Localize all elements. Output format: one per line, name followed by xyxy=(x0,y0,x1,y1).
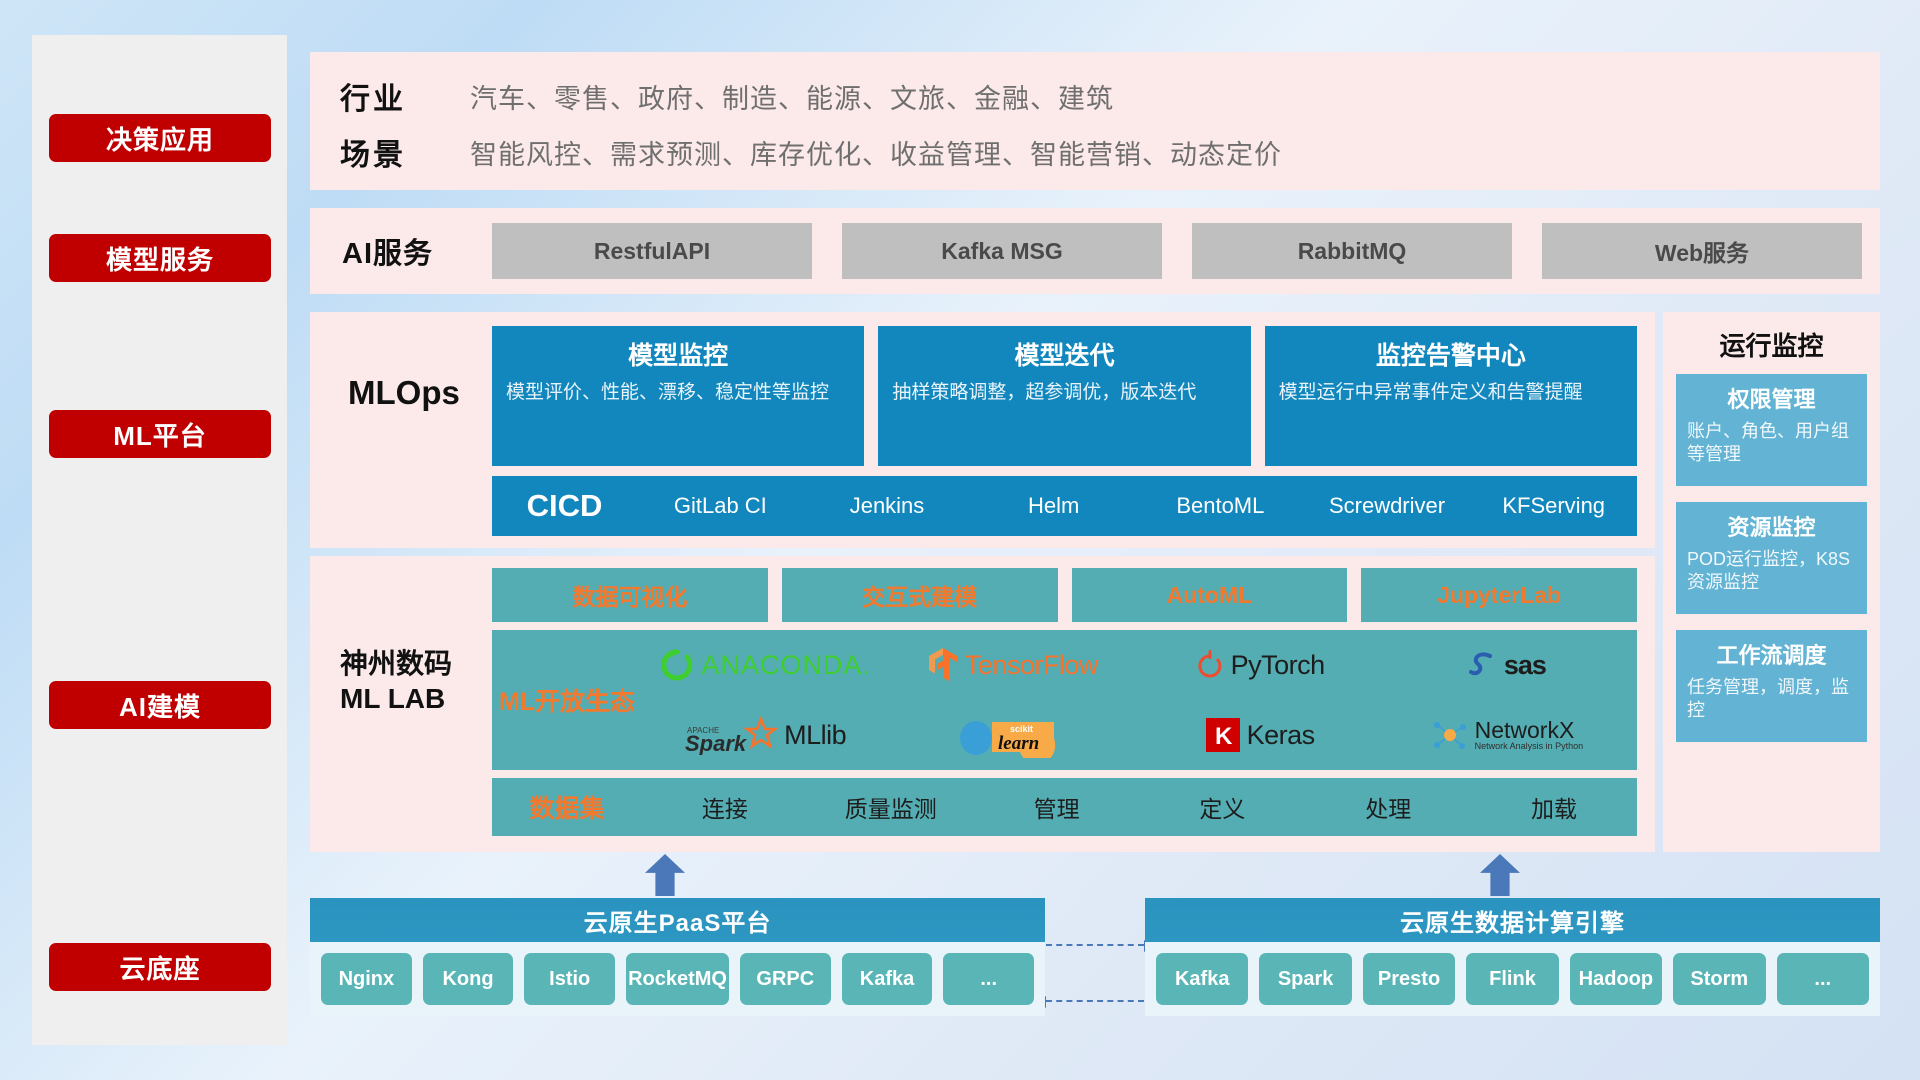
engine-chip-storm[interactable]: Storm xyxy=(1673,953,1765,1005)
mlops-card-model-iteration[interactable]: 模型迭代 抽样策略调整，超参调优，版本迭代 xyxy=(878,326,1250,466)
tab-automl[interactable]: AutoML xyxy=(1072,568,1348,622)
logo-anaconda: ANACONDA. xyxy=(660,648,871,682)
arrow-left-icon xyxy=(1046,1000,1144,1002)
rail-item-label: 决策应用 xyxy=(106,120,214,157)
dataset-item-load[interactable]: 加载 xyxy=(1471,790,1637,824)
spark-icon: APACHE Spark xyxy=(685,715,777,755)
arrow-up-engine-icon xyxy=(1480,854,1520,896)
runtime-monitor-panel: 运行监控 权限管理 账户、角色、用户组等管理 资源监控 POD运行监控，K8S资… xyxy=(1663,312,1880,852)
mlops-card-model-monitoring[interactable]: 模型监控 模型评价、性能、漂移、稳定性等监控 xyxy=(492,326,864,466)
scenario-label: 场景 xyxy=(340,130,470,174)
rail-item-label: AI建模 xyxy=(119,687,201,724)
industry-row: 行业 汽车、零售、政府、制造、能源、文旅、金融、建筑 xyxy=(340,74,1114,118)
logo-label: PyTorch xyxy=(1231,650,1325,681)
dataset-item-quality[interactable]: 质量监测 xyxy=(808,790,974,824)
engine-chip-spark[interactable]: Spark xyxy=(1259,953,1351,1005)
card-description: 模型运行中异常事件定义和告警提醒 xyxy=(1279,381,1623,406)
ml-lab-label-line1: 神州数码 xyxy=(340,646,452,681)
rail-item-label: ML平台 xyxy=(113,416,207,453)
engine-chip-presto[interactable]: Presto xyxy=(1363,953,1455,1005)
card-description: 任务管理，调度，监控 xyxy=(1687,676,1856,723)
cloud-chip-more[interactable]: ... xyxy=(943,953,1034,1005)
anaconda-icon xyxy=(660,648,694,682)
application-panel: 行业 汽车、零售、政府、制造、能源、文旅、金融、建筑 场景 智能风控、需求预测、… xyxy=(310,52,1880,190)
rail-item-ml-platform[interactable]: ML平台 xyxy=(49,410,271,458)
cloud-engine-title: 云原生数据计算引擎 xyxy=(1145,898,1880,942)
card-title: 权限管理 xyxy=(1687,382,1856,414)
ai-service-box-rabbitmq[interactable]: RabbitMQ xyxy=(1192,223,1512,279)
cloud-chip-nginx[interactable]: Nginx xyxy=(321,953,412,1005)
rail-item-label: 模型服务 xyxy=(106,240,214,277)
logo-spark-mllib: APACHE Spark MLlib xyxy=(685,715,846,755)
dataset-label: 数据集 xyxy=(492,789,642,825)
ml-ecosystem-logo-grid: ANACONDA. TensorFlow PyTorch xyxy=(642,630,1637,770)
mlops-panel: MLOps 模型监控 模型评价、性能、漂移、稳定性等监控 模型迭代 抽样策略调整… xyxy=(310,312,1655,548)
cloud-chip-grpc[interactable]: GRPC xyxy=(740,953,831,1005)
svg-text:learn: learn xyxy=(998,733,1039,754)
card-description: 账户、角色、用户组等管理 xyxy=(1687,420,1856,467)
cloud-chip-rocketmq[interactable]: RocketMQ xyxy=(626,953,729,1005)
tab-jupyterlab[interactable]: JupyterLab xyxy=(1361,568,1637,622)
scenario-values: 智能风控、需求预测、库存优化、收益管理、智能营销、动态定价 xyxy=(470,133,1282,172)
logo-label: MLlib xyxy=(784,720,846,751)
layer-rail: 决策应用 模型服务 ML平台 AI建模 云底座 xyxy=(32,35,287,1045)
dataset-item-process[interactable]: 处理 xyxy=(1305,790,1471,824)
logo-pytorch: PyTorch xyxy=(1196,649,1325,681)
dataset-item-define[interactable]: 定义 xyxy=(1139,790,1305,824)
ai-service-box-list: RestfulAPI Kafka MSG RabbitMQ Web服务 xyxy=(492,223,1862,279)
card-title: 模型迭代 xyxy=(892,336,1236,372)
cloud-engine-group: 云原生数据计算引擎 Kafka Spark Presto Flink Hadoo… xyxy=(1145,898,1880,1016)
ml-lab-label-line2: ML LAB xyxy=(340,681,452,716)
scikit-learn-icon: scikit learn xyxy=(958,712,1068,758)
card-description: 模型评价、性能、漂移、稳定性等监控 xyxy=(506,381,850,406)
cicd-item-bentoml[interactable]: BentoML xyxy=(1137,495,1304,517)
cicd-item-jenkins[interactable]: Jenkins xyxy=(804,495,971,517)
cicd-item-kfserving[interactable]: KFServing xyxy=(1470,495,1637,517)
logo-label: NetworkX xyxy=(1475,719,1584,742)
logo-label: TensorFlow xyxy=(965,650,1098,681)
dataset-band: 数据集 连接 质量监测 管理 定义 处理 加载 xyxy=(492,778,1637,836)
arrow-right-icon xyxy=(1046,944,1144,946)
ml-lab-label: 神州数码 ML LAB xyxy=(340,646,452,716)
card-title: 监控告警中心 xyxy=(1279,336,1623,372)
cloud-paas-chip-list: Nginx Kong Istio RocketMQ GRPC Kafka ... xyxy=(310,942,1045,1016)
card-description: POD运行监控，K8S资源监控 xyxy=(1687,548,1856,595)
ml-ecosystem-band: ML开放生态 ANACONDA. TensorFlow xyxy=(492,630,1637,770)
logo-label: ANACONDA. xyxy=(701,650,871,681)
sas-icon xyxy=(1469,650,1497,680)
ai-service-box-web[interactable]: Web服务 xyxy=(1542,223,1862,279)
card-description: 抽样策略调整，超参调优，版本迭代 xyxy=(892,381,1236,406)
engine-chip-more[interactable]: ... xyxy=(1777,953,1869,1005)
keras-icon: K xyxy=(1206,718,1240,752)
ai-modeling-panel: 神州数码 ML LAB 数据可视化 交互式建模 AutoML JupyterLa… xyxy=(310,556,1655,852)
cicd-title: CICD xyxy=(492,488,637,524)
dataset-item-manage[interactable]: 管理 xyxy=(974,790,1140,824)
logo-tagline: Network Analysis in Python xyxy=(1475,742,1584,751)
mlops-card-alert-center[interactable]: 监控告警中心 模型运行中异常事件定义和告警提醒 xyxy=(1265,326,1637,466)
dataset-item-connect[interactable]: 连接 xyxy=(642,790,808,824)
logo-label: sas xyxy=(1504,650,1546,681)
card-title: 模型监控 xyxy=(506,336,850,372)
tab-data-visualization[interactable]: 数据可视化 xyxy=(492,568,768,622)
engine-chip-hadoop[interactable]: Hadoop xyxy=(1570,953,1662,1005)
industry-values: 汽车、零售、政府、制造、能源、文旅、金融、建筑 xyxy=(470,77,1114,116)
runtime-monitor-title: 运行监控 xyxy=(1663,326,1880,363)
cloud-engine-chip-list: Kafka Spark Presto Flink Hadoop Storm ..… xyxy=(1145,942,1880,1016)
cloud-chip-kafka[interactable]: Kafka xyxy=(842,953,933,1005)
logo-keras: K Keras xyxy=(1206,718,1315,752)
logo-networkx: NetworkX Network Analysis in Python xyxy=(1432,718,1584,752)
cicd-bar: CICD GitLab CI Jenkins Helm BentoML Scre… xyxy=(492,476,1637,536)
card-title: 资源监控 xyxy=(1687,510,1856,542)
cloud-paas-title: 云原生PaaS平台 xyxy=(310,898,1045,942)
pytorch-icon xyxy=(1196,649,1224,681)
modeling-tab-list: 数据可视化 交互式建模 AutoML JupyterLab xyxy=(492,568,1637,622)
rail-item-model-service[interactable]: 模型服务 xyxy=(49,234,271,282)
scenario-row: 场景 智能风控、需求预测、库存优化、收益管理、智能营销、动态定价 xyxy=(340,130,1282,174)
mlops-card-list: 模型监控 模型评价、性能、漂移、稳定性等监控 模型迭代 抽样策略调整，超参调优，… xyxy=(492,326,1637,466)
engine-chip-kafka[interactable]: Kafka xyxy=(1156,953,1248,1005)
ml-ecosystem-label: ML开放生态 xyxy=(492,682,642,718)
rail-item-ai-modeling[interactable]: AI建模 xyxy=(49,681,271,729)
ai-service-panel: AI服务 RestfulAPI Kafka MSG RabbitMQ Web服务 xyxy=(310,208,1880,294)
engine-chip-flink[interactable]: Flink xyxy=(1466,953,1558,1005)
cicd-item-helm[interactable]: Helm xyxy=(970,495,1137,517)
card-title: 工作流调度 xyxy=(1687,638,1856,670)
logo-label: Keras xyxy=(1247,720,1315,751)
arrow-up-paas-icon xyxy=(645,854,685,896)
svg-text:Spark: Spark xyxy=(685,731,748,755)
cloud-paas-group: 云原生PaaS平台 Nginx Kong Istio RocketMQ GRPC… xyxy=(310,898,1045,1016)
rail-item-label: 云底座 xyxy=(119,949,200,986)
cloud-chip-kong[interactable]: Kong xyxy=(423,953,514,1005)
svg-text:K: K xyxy=(1215,723,1233,750)
networkx-icon xyxy=(1432,718,1468,752)
logo-sas: sas xyxy=(1469,650,1546,681)
cloud-chip-istio[interactable]: Istio xyxy=(524,953,615,1005)
ai-service-box-restful[interactable]: RestfulAPI xyxy=(492,223,812,279)
logo-scikit-learn: scikit learn xyxy=(958,712,1068,758)
tensorflow-icon xyxy=(928,647,958,683)
rail-item-decision-application[interactable]: 决策应用 xyxy=(49,114,271,162)
monitor-card-resource[interactable]: 资源监控 POD运行监控，K8S资源监控 xyxy=(1676,502,1867,614)
cicd-item-screwdriver[interactable]: Screwdriver xyxy=(1304,495,1471,517)
mlops-label: MLOps xyxy=(348,374,460,412)
industry-label: 行业 xyxy=(340,74,470,118)
logo-tensorflow: TensorFlow xyxy=(928,647,1098,683)
tab-interactive-modeling[interactable]: 交互式建模 xyxy=(782,568,1058,622)
ai-service-box-kafka[interactable]: Kafka MSG xyxy=(842,223,1162,279)
monitor-card-workflow[interactable]: 工作流调度 任务管理，调度，监控 xyxy=(1676,630,1867,742)
cicd-item-gitlab-ci[interactable]: GitLab CI xyxy=(637,495,804,517)
ai-service-label: AI服务 xyxy=(342,230,433,272)
monitor-card-permission[interactable]: 权限管理 账户、角色、用户组等管理 xyxy=(1676,374,1867,486)
rail-item-cloud-foundation[interactable]: 云底座 xyxy=(49,943,271,991)
